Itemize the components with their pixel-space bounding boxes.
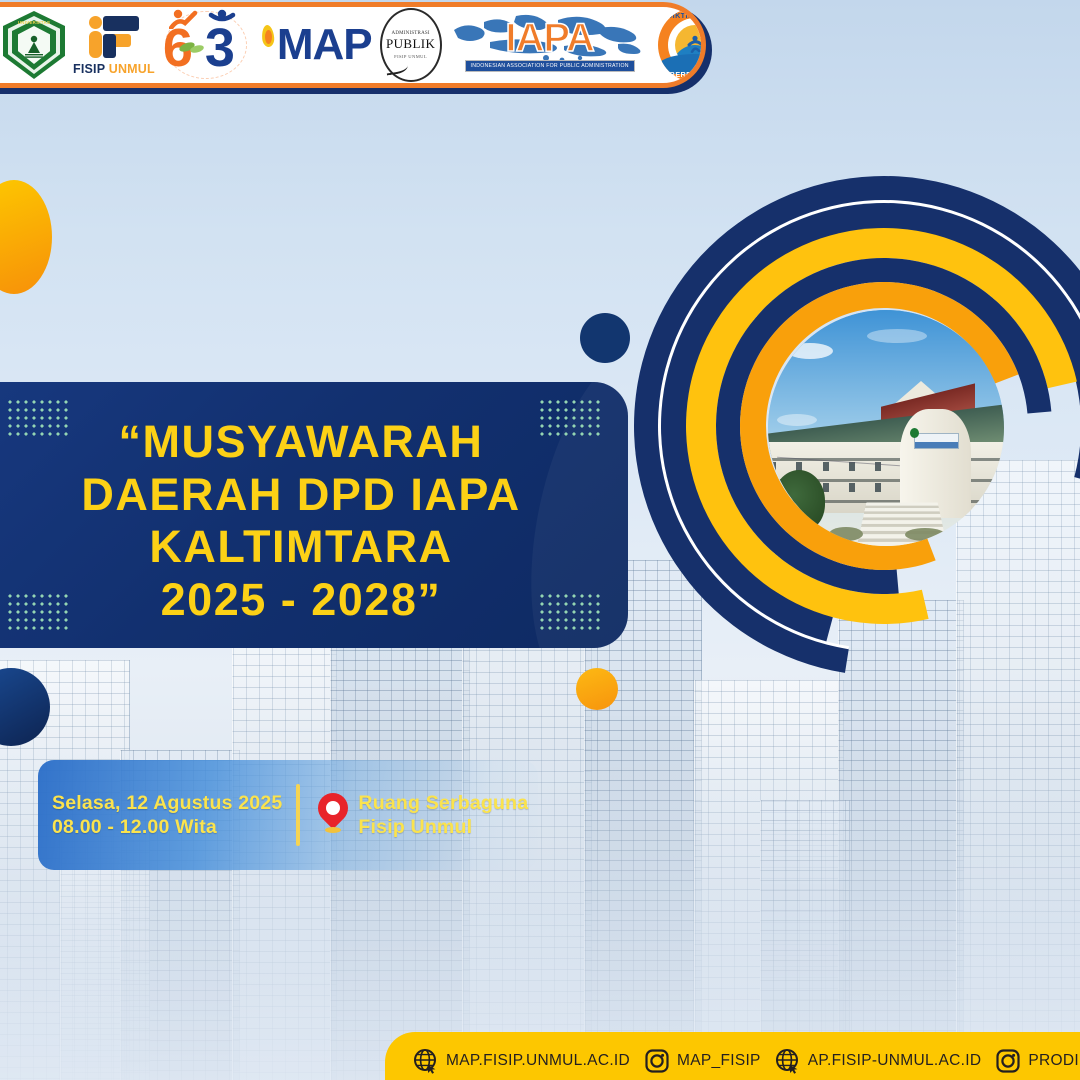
iapa-logo: IAPA INDONESIAN ASSOCIATION FOR PUBLIC A… [450, 7, 650, 83]
title-line-2: DAERAH DPD IAPA [0, 469, 610, 522]
globe-icon [775, 1048, 801, 1074]
title-line-4: 2025 - 2028” [0, 574, 610, 627]
vertical-divider [296, 784, 300, 846]
diktisaintek-logo: DIKTISAINTEK BERDAMPAK [658, 7, 706, 83]
venue-line-2: Fisip Unmul [358, 815, 528, 839]
fisip-unmul-label: FISIP UNMUL [73, 62, 155, 76]
logo-bar: UNIVERSITAS FISIP UNMUL [0, 2, 706, 88]
footer-instagram-prodipublik-text: PRODIPUBLIK [1028, 1052, 1080, 1070]
globe-icon [413, 1048, 439, 1074]
decor-circle-orange-middle [576, 668, 618, 710]
event-venue: Ruang Serbaguna Fisip Unmul [358, 791, 528, 840]
shield-icon: UNIVERSITAS [3, 11, 65, 79]
instagram-icon [644, 1048, 670, 1074]
dikti-arc-bottom: BERDAMPAK [658, 70, 706, 79]
oval-seal-icon: ADMINISTRASI PUBLIK FISIP UNMUL [380, 8, 442, 82]
circular-seal-icon: DIKTISAINTEK BERDAMPAK [658, 8, 706, 82]
footer-website-map-text: MAP.FISIP.UNMUL.AC.ID [446, 1052, 630, 1070]
flame-icon [257, 25, 279, 65]
fisip-unmul-logo: FISIP UNMUL [73, 7, 155, 83]
anniversary-63-logo: 63 [163, 7, 249, 83]
footer-item-instagram-prodipublik[interactable]: PRODIPUBLIK [995, 1048, 1080, 1074]
footer-item-website-map[interactable]: MAP.FISIP.UNMUL.AC.ID [413, 1048, 630, 1074]
fisip-building-photo: Gedung FISIP Universitas Mulawarman [768, 310, 1004, 546]
iapa-wordmark: IAPA [505, 18, 594, 58]
footer-instagram-map-text: MAP_FISIP [677, 1052, 761, 1070]
footer-website-ap-text: AP.FISIP-UNMUL.AC.ID [808, 1052, 982, 1070]
event-poster: Gedung FISIP Universitas Mulawarman “MUS… [0, 0, 1080, 1080]
event-date: Selasa, 12 Agustus 2025 [52, 791, 282, 815]
people-63-icon: 63 [163, 9, 249, 81]
instagram-icon [995, 1048, 1021, 1074]
ring-graphic-cluster: Gedung FISIP Universitas Mulawarman [634, 176, 1080, 966]
map-logo: MAP [257, 7, 372, 83]
administrasi-publik-logo: ADMINISTRASI PUBLIK FISIP UNMUL [380, 7, 442, 83]
title-panel: “MUSYAWARAH DAERAH DPD IAPA KALTIMTARA 2… [0, 382, 628, 648]
footer-item-instagram-map[interactable]: MAP_FISIP [644, 1048, 761, 1074]
iapa-subtitle: INDONESIAN ASSOCIATION FOR PUBLIC ADMINI… [465, 60, 635, 72]
title-line-1: “MUSYAWARAH [0, 416, 610, 469]
event-datetime: Selasa, 12 Agustus 2025 08.00 - 12.00 Wi… [38, 791, 282, 840]
title-line-3: KALTIMTARA [0, 521, 610, 574]
adpub-line-3: FISIP UNMUL [394, 54, 427, 59]
map-wordmark: MAP [277, 23, 372, 67]
shield-emblem [18, 26, 50, 64]
f-mark-icon [87, 14, 141, 60]
adpub-line-2: PUBLIK [386, 36, 435, 52]
footer-contact-bar: MAP.FISIP.UNMUL.AC.ID MAP_FISIP AP.FISIP… [385, 1032, 1080, 1080]
venue-line-1: Ruang Serbaguna [358, 791, 528, 815]
dikti-arc-top: DIKTISAINTEK [658, 11, 706, 20]
location-pin-icon [316, 793, 350, 837]
event-title: “MUSYAWARAH DAERAH DPD IAPA KALTIMTARA 2… [0, 416, 610, 627]
event-time: 08.00 - 12.00 Wita [52, 815, 282, 839]
footer-item-website-ap[interactable]: AP.FISIP-UNMUL.AC.ID [775, 1048, 982, 1074]
decor-circle-navy-small [580, 313, 630, 363]
event-details-panel: Selasa, 12 Agustus 2025 08.00 - 12.00 Wi… [38, 760, 538, 870]
unmul-shield-logo: UNIVERSITAS [3, 7, 65, 83]
